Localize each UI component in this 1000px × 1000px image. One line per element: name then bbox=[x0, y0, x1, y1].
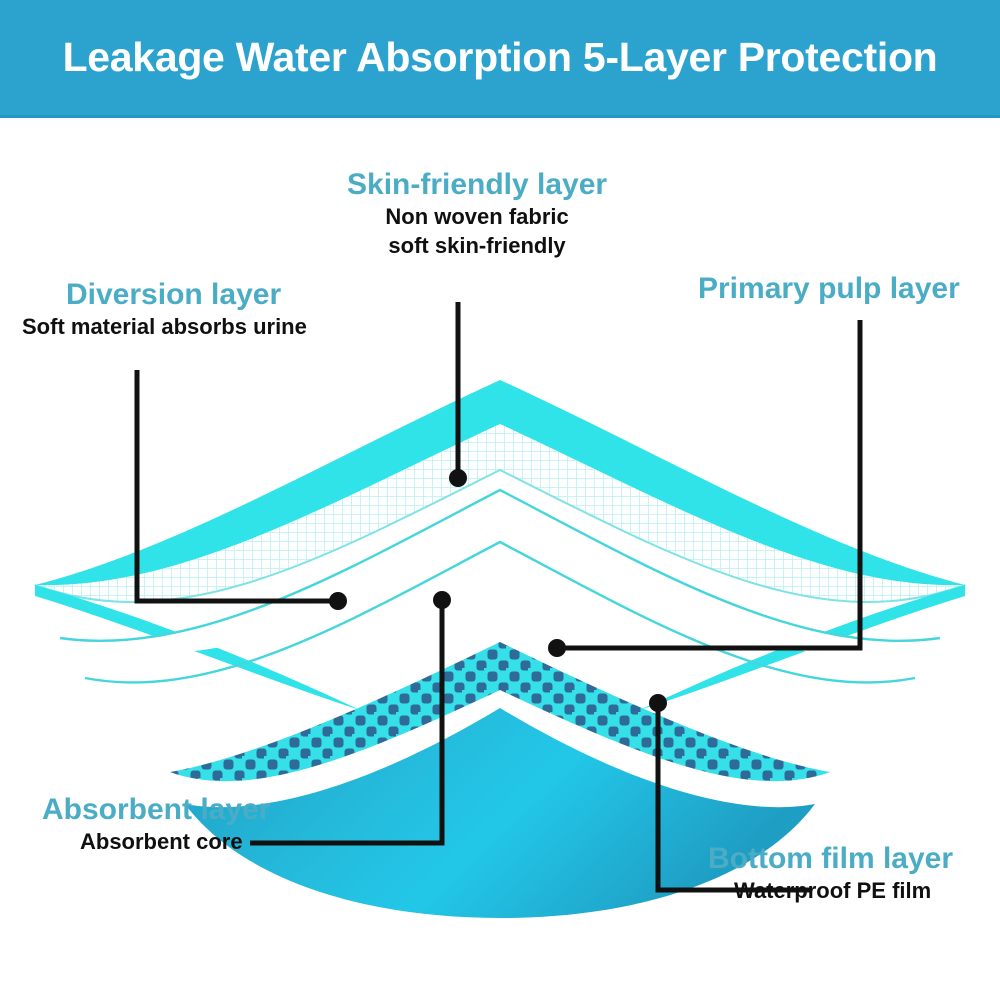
callout-bottom-film-heading: Bottom film layer bbox=[708, 842, 953, 876]
callout-skin-friendly-subtitle-line1: Non woven fabric bbox=[347, 202, 607, 231]
callout-primary-pulp-heading: Primary pulp layer bbox=[698, 272, 960, 306]
callout-skin-friendly-subtitle-line2: soft skin-friendly bbox=[347, 231, 607, 260]
page-title: Leakage Water Absorption 5-Layer Protect… bbox=[63, 34, 938, 81]
callout-skin-friendly-heading: Skin-friendly layer bbox=[347, 168, 607, 202]
callout-absorbent-layer: Absorbent layer Absorbent core bbox=[42, 793, 270, 856]
callout-primary-pulp-layer: Primary pulp layer bbox=[698, 272, 960, 306]
callout-absorbent-heading: Absorbent layer bbox=[42, 793, 270, 827]
title-banner: Leakage Water Absorption 5-Layer Protect… bbox=[0, 0, 1000, 118]
callout-bottom-film-layer: Bottom film layer Waterproof PE film bbox=[708, 842, 953, 905]
callout-diversion-layer: Diversion layer Soft material absorbs ur… bbox=[22, 278, 307, 341]
layer-skin-friendly-band bbox=[35, 380, 965, 585]
callout-absorbent-subtitle: Absorbent core bbox=[42, 827, 270, 856]
callout-bottom-film-subtitle: Waterproof PE film bbox=[708, 876, 953, 905]
callout-diversion-heading: Diversion layer bbox=[22, 278, 307, 312]
callout-skin-friendly-layer: Skin-friendly layer Non woven fabric sof… bbox=[347, 168, 607, 260]
callout-diversion-subtitle: Soft material absorbs urine bbox=[22, 312, 307, 341]
